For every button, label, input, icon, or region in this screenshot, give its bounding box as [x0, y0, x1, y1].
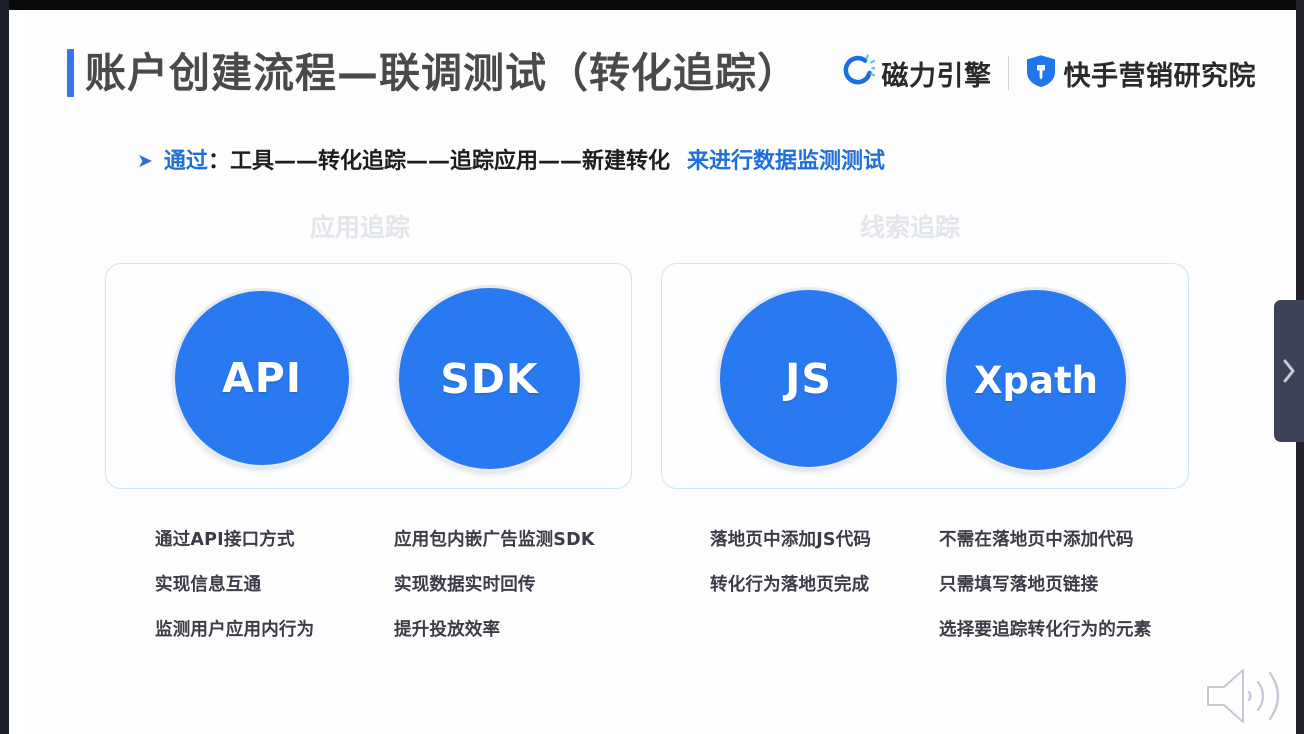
description-line: 通过API接口方式 [155, 518, 314, 563]
description-line: 实现数据实时回传 [394, 563, 595, 608]
description-line: 应用包内嵌广告监测SDK [394, 518, 595, 563]
video-player-viewport: 账户创建流程—联调测试（转化追踪） [0, 0, 1304, 734]
section-label-lead-tracking: 线索追踪 [860, 208, 960, 244]
title-accent-bar [67, 49, 74, 97]
section-label-app-tracking: 应用追踪 [310, 208, 410, 244]
circle-api[interactable]: API [175, 291, 349, 465]
subtitle-tail: 来进行数据监测测试 [687, 143, 885, 175]
slide-header: 账户创建流程—联调测试（转化追踪） [9, 42, 1296, 104]
page-title: 账户创建流程—联调测试（转化追踪） [85, 42, 799, 104]
description-column-sdk: 应用包内嵌广告监测SDK 实现数据实时回传 提升投放效率 [394, 518, 595, 653]
next-panel-tab-button[interactable] [1274, 300, 1304, 442]
circle-xpath[interactable]: Xpath [946, 290, 1126, 470]
subtitle-path: ：工具——转化追踪——追踪应用——新建转化 [208, 143, 670, 175]
volume-speaker-icon [1198, 665, 1284, 727]
subtitle-lead: 通过 [164, 143, 208, 175]
description-column-api: 通过API接口方式 实现信息互通 监测用户应用内行为 [155, 518, 314, 653]
description-line: 只需填写落地页链接 [939, 563, 1151, 608]
description-line: 选择要追踪转化行为的元素 [939, 608, 1151, 653]
frame-border-left [0, 0, 9, 734]
kuaishou-shield-logo-icon [1025, 54, 1057, 93]
brand-divider [1008, 56, 1009, 90]
brand-kuaishou-institute-label: 快手营销研究院 [1064, 54, 1257, 93]
description-line: 不需在落地页中添加代码 [939, 518, 1151, 563]
description-line: 提升投放效率 [394, 608, 595, 653]
arrow-bullet-icon: ➤ [137, 150, 153, 172]
chevron-right-icon [1281, 358, 1297, 384]
presentation-slide: 账户创建流程—联调测试（转化追踪） [9, 10, 1296, 734]
subtitle-line: ➤ 通过 ：工具——转化追踪——追踪应用——新建转化 来进行数据监测测试 [137, 143, 885, 175]
circle-js[interactable]: JS [720, 290, 897, 467]
description-column-js: 落地页中添加JS代码 转化行为落地页完成 [710, 518, 871, 608]
brand-lockup: 磁力引擎 快手营销研究院 [841, 50, 1257, 96]
magnetic-engine-logo-icon [841, 54, 875, 93]
brand-kuaishou-institute: 快手营销研究院 [1025, 54, 1257, 93]
circle-sdk[interactable]: SDK [399, 288, 580, 469]
brand-magnetic-engine-label: 磁力引擎 [882, 54, 992, 93]
description-line: 实现信息互通 [155, 563, 314, 608]
frame-border-top [0, 0, 1304, 10]
description-line: 监测用户应用内行为 [155, 608, 314, 653]
description-line: 转化行为落地页完成 [710, 563, 871, 608]
description-column-xpath: 不需在落地页中添加代码 只需填写落地页链接 选择要追踪转化行为的元素 [939, 518, 1151, 653]
description-line: 落地页中添加JS代码 [710, 518, 871, 563]
brand-magnetic-engine: 磁力引擎 [841, 54, 992, 93]
